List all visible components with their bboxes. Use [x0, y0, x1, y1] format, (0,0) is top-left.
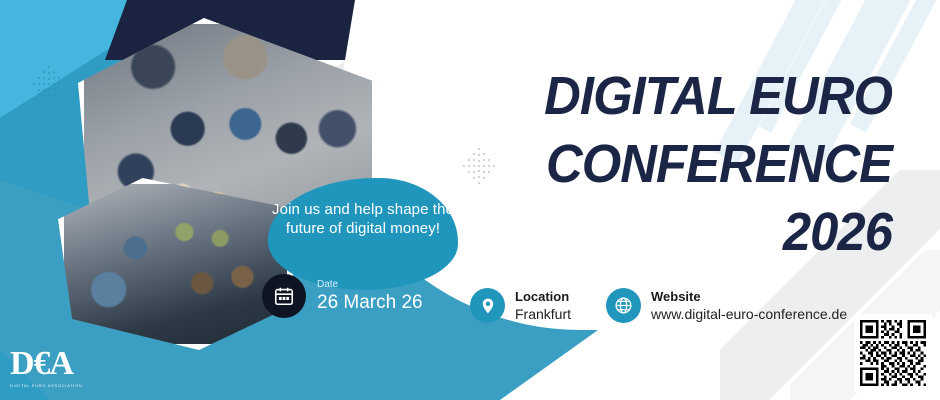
website-label: Website: [651, 289, 847, 305]
logo-tagline: DIGITAL EURO ASSOCIATION: [10, 383, 105, 388]
logo-mark: D€A: [10, 347, 105, 381]
date-label: Date: [317, 279, 423, 291]
chevron-dots-icon: [30, 58, 82, 110]
date-value: 26 March 26: [317, 291, 423, 314]
location-value: Frankfurt: [515, 305, 571, 323]
dea-logo: D€A DIGITAL EURO ASSOCIATION: [10, 347, 105, 388]
date-text: Date 26 March 26: [317, 279, 423, 314]
globe-icon: [606, 288, 641, 323]
website-text: Website www.digital-euro-conference.de: [651, 289, 847, 323]
title-line-2: CONFERENCE: [497, 130, 892, 198]
map-pin-icon: [470, 288, 505, 323]
location-text: Location Frankfurt: [515, 289, 571, 323]
website-value[interactable]: www.digital-euro-conference.de: [651, 305, 847, 323]
website-block[interactable]: Website www.digital-euro-conference.de: [606, 288, 847, 323]
speech-bubble-text: Join us and help shape the future of dig…: [268, 200, 458, 238]
conference-banner: Join us and help shape the future of dig…: [0, 0, 940, 400]
date-block: Date 26 March 26: [262, 274, 423, 318]
location-block: Location Frankfurt: [470, 288, 571, 323]
title-line-1: DIGITAL EURO: [497, 62, 892, 130]
qr-code[interactable]: [854, 314, 932, 392]
location-label: Location: [515, 289, 571, 305]
calendar-icon: [262, 274, 306, 318]
page-title: DIGITAL EURO CONFERENCE 2026: [497, 62, 892, 266]
title-line-3: 2026: [497, 198, 892, 266]
